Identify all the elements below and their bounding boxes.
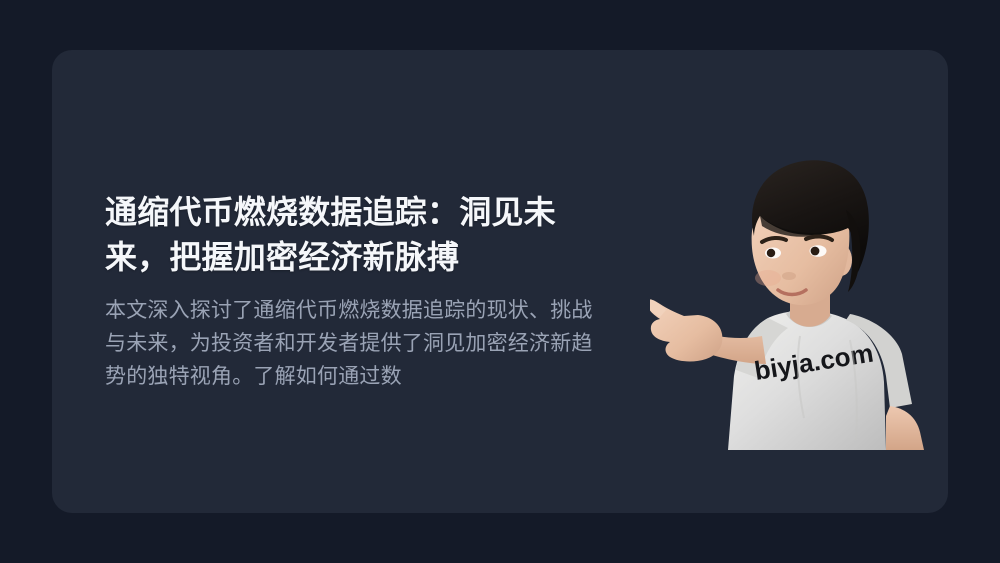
face [752, 187, 850, 305]
shirt-body [728, 310, 886, 450]
pointing-arm [662, 318, 766, 364]
slide-canvas: 通缩代币燃烧数据追踪：洞见未来，把握加密经济新脉搏 本文深入探讨了通缩代币燃烧数… [0, 0, 1000, 563]
ear [830, 244, 852, 276]
cheek-blush [755, 270, 781, 286]
shirt-fold-1 [798, 336, 804, 418]
eye-white-right [810, 245, 827, 257]
eyebrow-right [806, 236, 832, 240]
article-card: 通缩代币燃烧数据追踪：洞见未来，把握加密经济新脉搏 本文深入探讨了通缩代币燃烧数… [52, 50, 948, 513]
pupil-left [767, 249, 775, 257]
eyebrow-left [762, 238, 786, 242]
nose-guide [786, 266, 792, 278]
neck [790, 286, 830, 327]
shirt-collar [786, 307, 832, 327]
pointing-hand [650, 300, 722, 362]
card-text-block: 通缩代币燃烧数据追踪：洞见未来，把握加密经济新脉搏 本文深入探讨了通缩代币燃烧数… [105, 190, 605, 393]
index-finger [650, 299, 666, 317]
shirt-logo-text: biyja.com [752, 338, 875, 386]
article-description: 本文深入探讨了通缩代币燃烧数据追踪的现状、挑战与未来，为投资者和开发者提供了洞见… [105, 294, 605, 393]
shirt-sleeve-left [736, 318, 788, 378]
shirt-sleeve-right [846, 314, 912, 408]
hair-fringe [760, 216, 826, 237]
hair [752, 160, 869, 272]
right-forearm [886, 406, 924, 450]
mouth [778, 290, 806, 295]
page-title: 通缩代币燃烧数据追踪：洞见未来，把握加密经济新脉搏 [105, 190, 605, 280]
nose [782, 272, 796, 280]
eye-white-left [765, 248, 781, 259]
hair-side [846, 210, 860, 292]
shirt-fold-2 [850, 340, 857, 440]
pupil-right [811, 247, 820, 256]
pointing-child-photo: biyja.com [650, 140, 940, 450]
